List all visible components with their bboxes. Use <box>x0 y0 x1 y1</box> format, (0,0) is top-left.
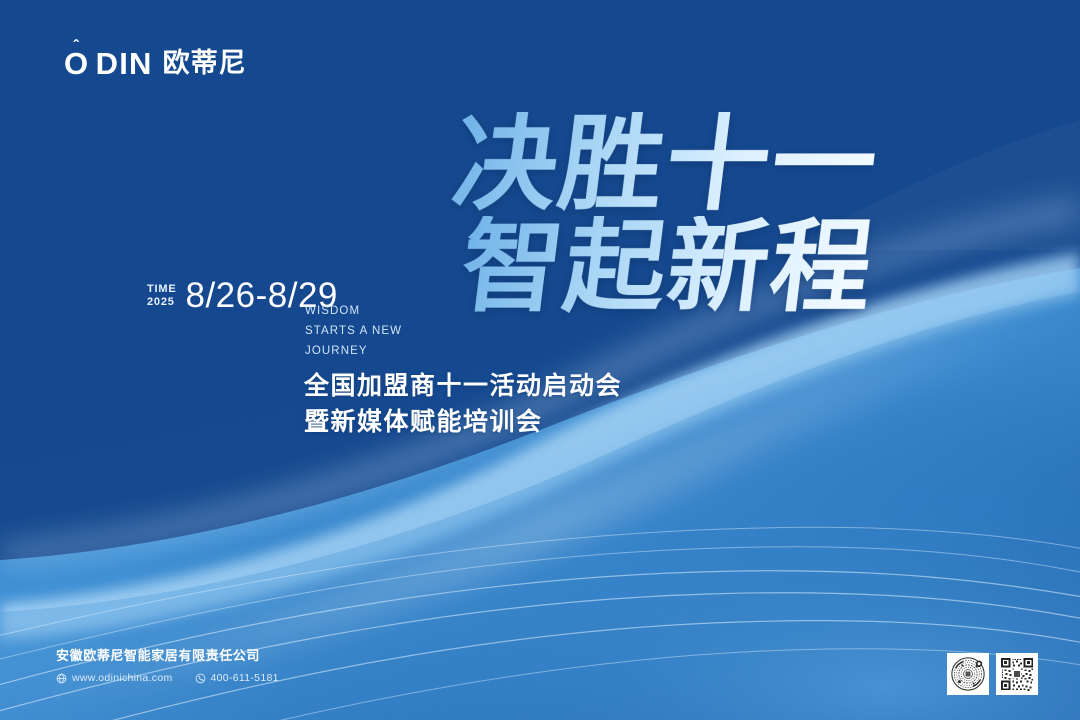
tagline-line-1: WISDOM <box>305 301 402 321</box>
phone-text: 400-611-5181 <box>211 673 279 684</box>
contact-row: www.odinichina.com 400-611-5181 <box>56 673 279 684</box>
company-name: 安徽欧蒂尼智能家居有限责任公司 <box>56 647 279 667</box>
time-label-stack: TIME 2025 <box>147 283 176 313</box>
wechat-mini-program-qr[interactable] <box>996 653 1038 695</box>
brand-logo[interactable]: ˆ O DIN 欧蒂尼 <box>64 48 247 79</box>
website-text: www.odinichina.com <box>72 673 173 684</box>
globe-icon <box>56 673 67 684</box>
footer-block: 安徽欧蒂尼智能家居有限责任公司 www.odinichina.com <box>56 647 279 685</box>
logo-o-letter: ˆ O <box>64 48 89 79</box>
phone-contact[interactable]: 400-611-5181 <box>195 673 279 684</box>
qr-code-group <box>947 653 1038 695</box>
phone-icon <box>195 673 206 684</box>
headline-line-2: 智起新程 <box>456 216 880 317</box>
tagline-line-2: STARTS A NEW <box>305 321 402 341</box>
english-tagline: WISDOM STARTS A NEW JOURNEY <box>305 301 402 361</box>
event-subtitle: 全国加盟商十一活动启动会 暨新媒体赋能培训会 <box>304 368 622 439</box>
year-label: 2025 <box>147 296 176 308</box>
wechat-official-account-qr[interactable] <box>947 653 989 695</box>
website-contact[interactable]: www.odinichina.com <box>56 673 173 684</box>
logo-chinese-text: 欧蒂尼 <box>163 50 247 77</box>
circumflex-icon: ˆ <box>73 39 79 55</box>
subtitle-line-1: 全国加盟商十一活动启动会 <box>304 368 622 404</box>
subtitle-line-2: 暨新媒体赋能培训会 <box>304 404 622 440</box>
time-label: TIME <box>147 283 176 295</box>
headline-line-1: 决胜十一 <box>448 112 885 216</box>
headline-calligraphy: 决胜十一 智起新程 <box>448 112 898 342</box>
logo-latin-text: DIN <box>96 48 153 79</box>
poster-canvas: ˆ O DIN 欧蒂尼 决胜十一 智起新程 TIME 2025 8/26-8/2… <box>0 0 1080 720</box>
tagline-line-3: JOURNEY <box>305 341 402 361</box>
